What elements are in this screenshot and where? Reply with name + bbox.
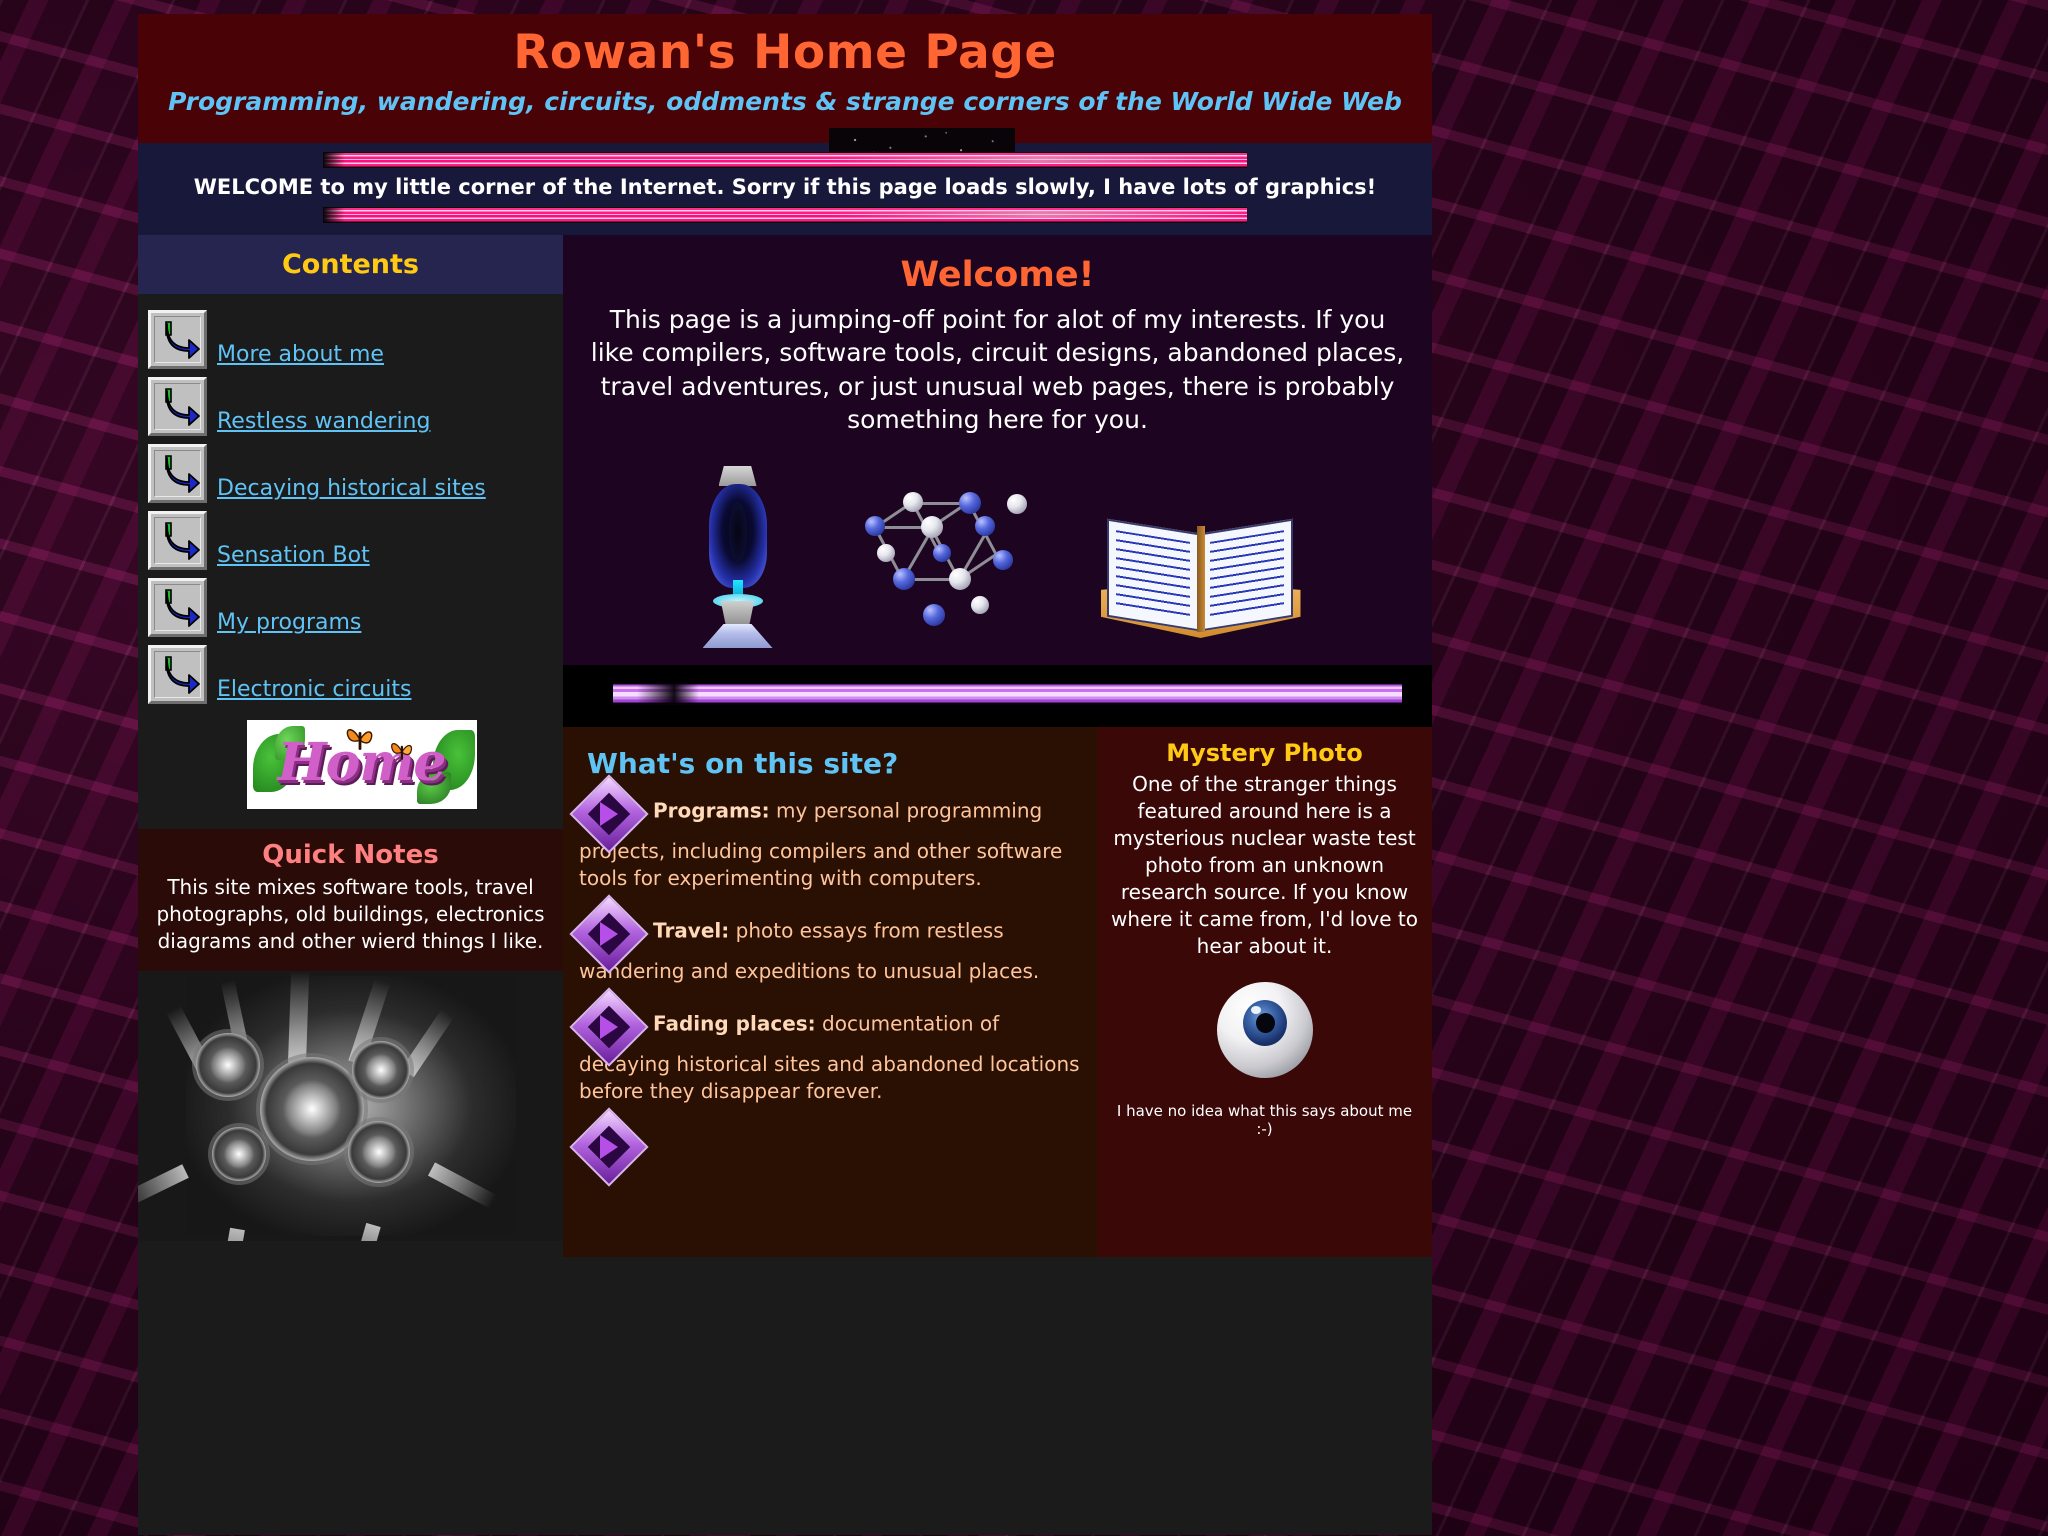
sidebar-heading: Contents	[138, 235, 563, 294]
diamond-arrow-icon	[581, 906, 637, 962]
sidebar-link-label[interactable]: More about me	[217, 342, 384, 369]
pink-divider-top-icon	[323, 152, 1247, 168]
sidebar-link-label[interactable]: Decaying historical sites	[217, 476, 486, 503]
sidebar: Contents More about me	[138, 235, 563, 1535]
page-title: Rowan's Home Page	[138, 14, 1432, 76]
home-graphic-wrapper: Home	[138, 704, 563, 829]
diamond-arrow-icon	[581, 999, 637, 1055]
curved-arrow-icon	[148, 310, 207, 369]
sidebar-item-decaying-historical-sites[interactable]: Decaying historical sites	[148, 436, 563, 503]
mystery-photo-body: One of the stranger things featured arou…	[1111, 771, 1418, 960]
sidebar-link-label[interactable]: Restless wandering	[217, 409, 430, 436]
lava-lamp-icon	[695, 466, 781, 642]
sidebar-item-electronic-circuits[interactable]: Electronic circuits	[148, 637, 563, 704]
gear-icon	[348, 1121, 410, 1183]
gear-icon	[352, 1041, 410, 1099]
sidebar-item-my-programs[interactable]: My programs	[148, 570, 563, 637]
butterfly-icon	[387, 736, 417, 770]
feature-label: Travel:	[653, 919, 729, 943]
curved-arrow-icon	[148, 578, 207, 637]
open-book-icon	[1101, 518, 1301, 642]
diamond-arrow-icon	[581, 1119, 637, 1175]
feature-item-fading-places: Fading places: documentation of decaying…	[579, 999, 1081, 1105]
quick-notes-body: This site mixes software tools, travel p…	[156, 874, 545, 955]
mystery-photo-panel: Mystery Photo One of the stranger things…	[1097, 727, 1432, 1257]
gears-image	[138, 971, 563, 1241]
whats-on-site-panel: What's on this site? Programs: my person…	[563, 727, 1097, 1257]
feature-label: Programs:	[653, 799, 770, 823]
mystery-photo-caption: I have no idea what this says about me :…	[1111, 1102, 1418, 1138]
body-grid: Contents More about me	[138, 235, 1432, 1535]
feature-item-programs: Programs: my personal programming projec…	[579, 786, 1081, 892]
gear-icon	[196, 1033, 260, 1097]
welcome-banner: WELCOME to my little corner of the Inter…	[138, 143, 1432, 235]
gear-icon	[212, 1127, 266, 1181]
welcome-body: This page is a jumping-off point for alo…	[583, 303, 1412, 436]
feature-text: photo essays from restless wandering and…	[579, 919, 1039, 984]
quick-notes-panel: Quick Notes This site mixes software too…	[138, 829, 563, 971]
diamond-arrow-icon	[581, 786, 637, 842]
sidebar-link-label[interactable]: Electronic circuits	[217, 677, 411, 704]
curved-arrow-icon	[148, 377, 207, 436]
molecule-lattice-icon	[851, 492, 1031, 642]
whats-on-site-title: What's on this site?	[587, 747, 1081, 780]
eyeball-icon	[1217, 982, 1313, 1078]
pink-divider-bottom-icon	[323, 207, 1247, 223]
main-column: Welcome! This page is a jumping-off poin…	[563, 235, 1432, 1535]
lower-section: What's on this site? Programs: my person…	[563, 727, 1432, 1257]
sidebar-item-more-about-me[interactable]: More about me	[148, 302, 563, 369]
butterfly-icon	[343, 722, 377, 760]
sidebar-nav-list: More about me Restless wandering	[138, 294, 563, 704]
quick-notes-title: Quick Notes	[156, 840, 545, 870]
masthead: Rowan's Home Page Programming, wandering…	[138, 14, 1432, 143]
welcome-panel: Welcome! This page is a jumping-off poin…	[563, 235, 1432, 665]
eyeball-wrapper	[1111, 982, 1418, 1082]
sidebar-item-restless-wandering[interactable]: Restless wandering	[148, 369, 563, 436]
feature-item-partial	[579, 1119, 1081, 1171]
sidebar-link-label[interactable]: My programs	[217, 610, 361, 637]
curved-arrow-icon	[148, 444, 207, 503]
purple-divider-strip	[563, 665, 1432, 727]
welcome-banner-text: WELCOME to my little corner of the Inter…	[138, 168, 1432, 207]
feature-text: my personal programming projects, includ…	[579, 799, 1062, 891]
sidebar-item-sensation-bot[interactable]: Sensation Bot	[148, 503, 563, 570]
purple-divider-icon	[613, 683, 1402, 705]
page-tagline: Programming, wandering, circuits, oddmen…	[138, 87, 1432, 116]
sidebar-link-label[interactable]: Sensation Bot	[217, 543, 370, 570]
mystery-photo-title: Mystery Photo	[1111, 739, 1418, 767]
feature-label: Fading places:	[653, 1012, 816, 1036]
curved-arrow-icon	[148, 645, 207, 704]
welcome-title: Welcome!	[583, 255, 1412, 295]
page-container: Rowan's Home Page Programming, wandering…	[138, 14, 1432, 1536]
welcome-image-row	[583, 462, 1412, 642]
home-banner-image: Home	[247, 720, 477, 809]
feature-item-travel: Travel: photo essays from restless wande…	[579, 906, 1081, 985]
curved-arrow-icon	[148, 511, 207, 570]
